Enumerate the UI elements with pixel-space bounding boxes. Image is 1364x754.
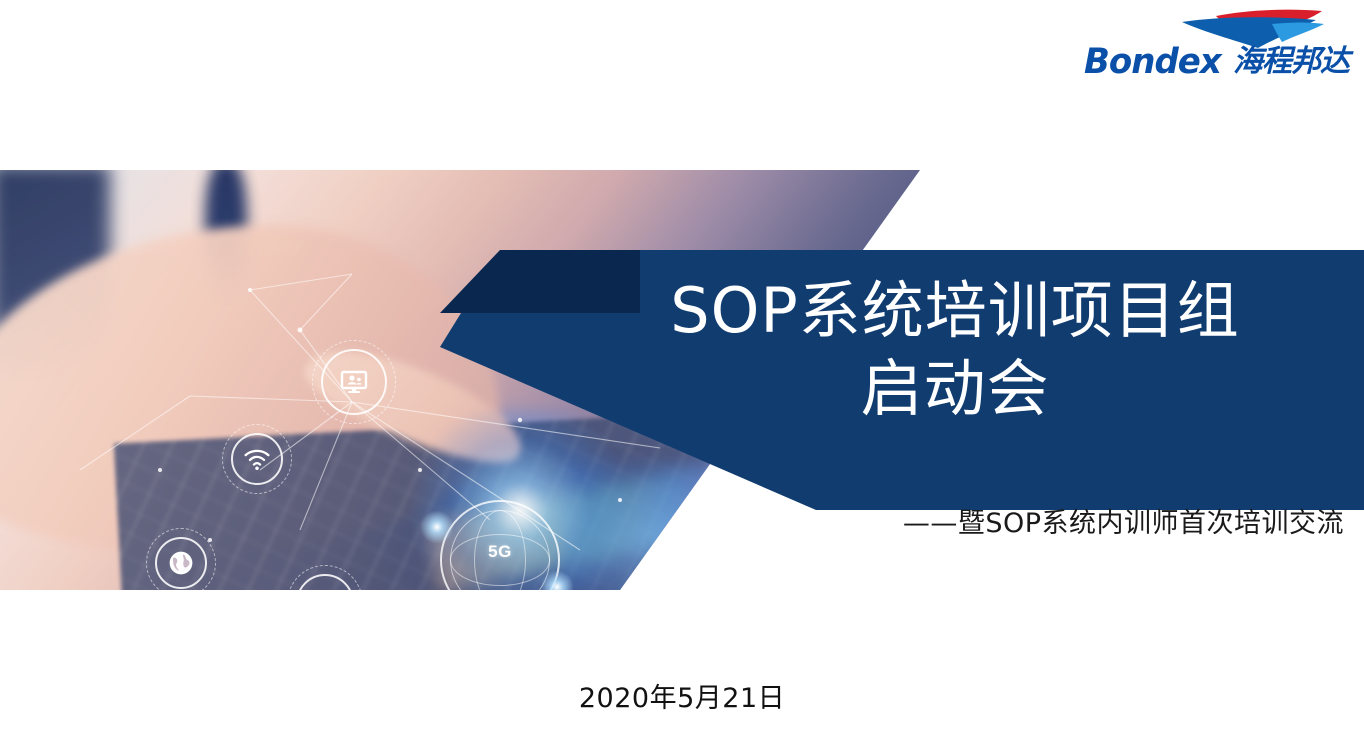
bondex-logo: Bondex 海程邦达 [1084, 6, 1356, 86]
bondex-wordmark: Bondex 海程邦达 [1084, 42, 1356, 82]
page-title-line-1: SOP系统培训项目组 [560, 272, 1350, 350]
video-conference-icon [321, 349, 387, 415]
page-subtitle: ——暨SOP系统内训师首次培训交流 [0, 505, 1344, 543]
bondex-logo-chinese: 海程邦达 [1233, 47, 1349, 77]
wifi-icon [231, 433, 283, 485]
bondex-logo-latin: Bondex [1084, 45, 1221, 80]
lock-icon [296, 574, 354, 590]
page-title-line-2: 启动会 [560, 350, 1350, 428]
photo-sparkle-1 [540, 570, 574, 590]
page-title: SOP系统培训项目组 启动会 [560, 272, 1350, 428]
handshake-icon [621, 587, 687, 590]
presentation-title-slide: Bondex 海程邦达 [0, 0, 1364, 754]
five-g-label: 5G [440, 542, 560, 562]
globe-icon [155, 537, 207, 589]
presentation-date: 2020年5月21日 [0, 676, 1364, 715]
